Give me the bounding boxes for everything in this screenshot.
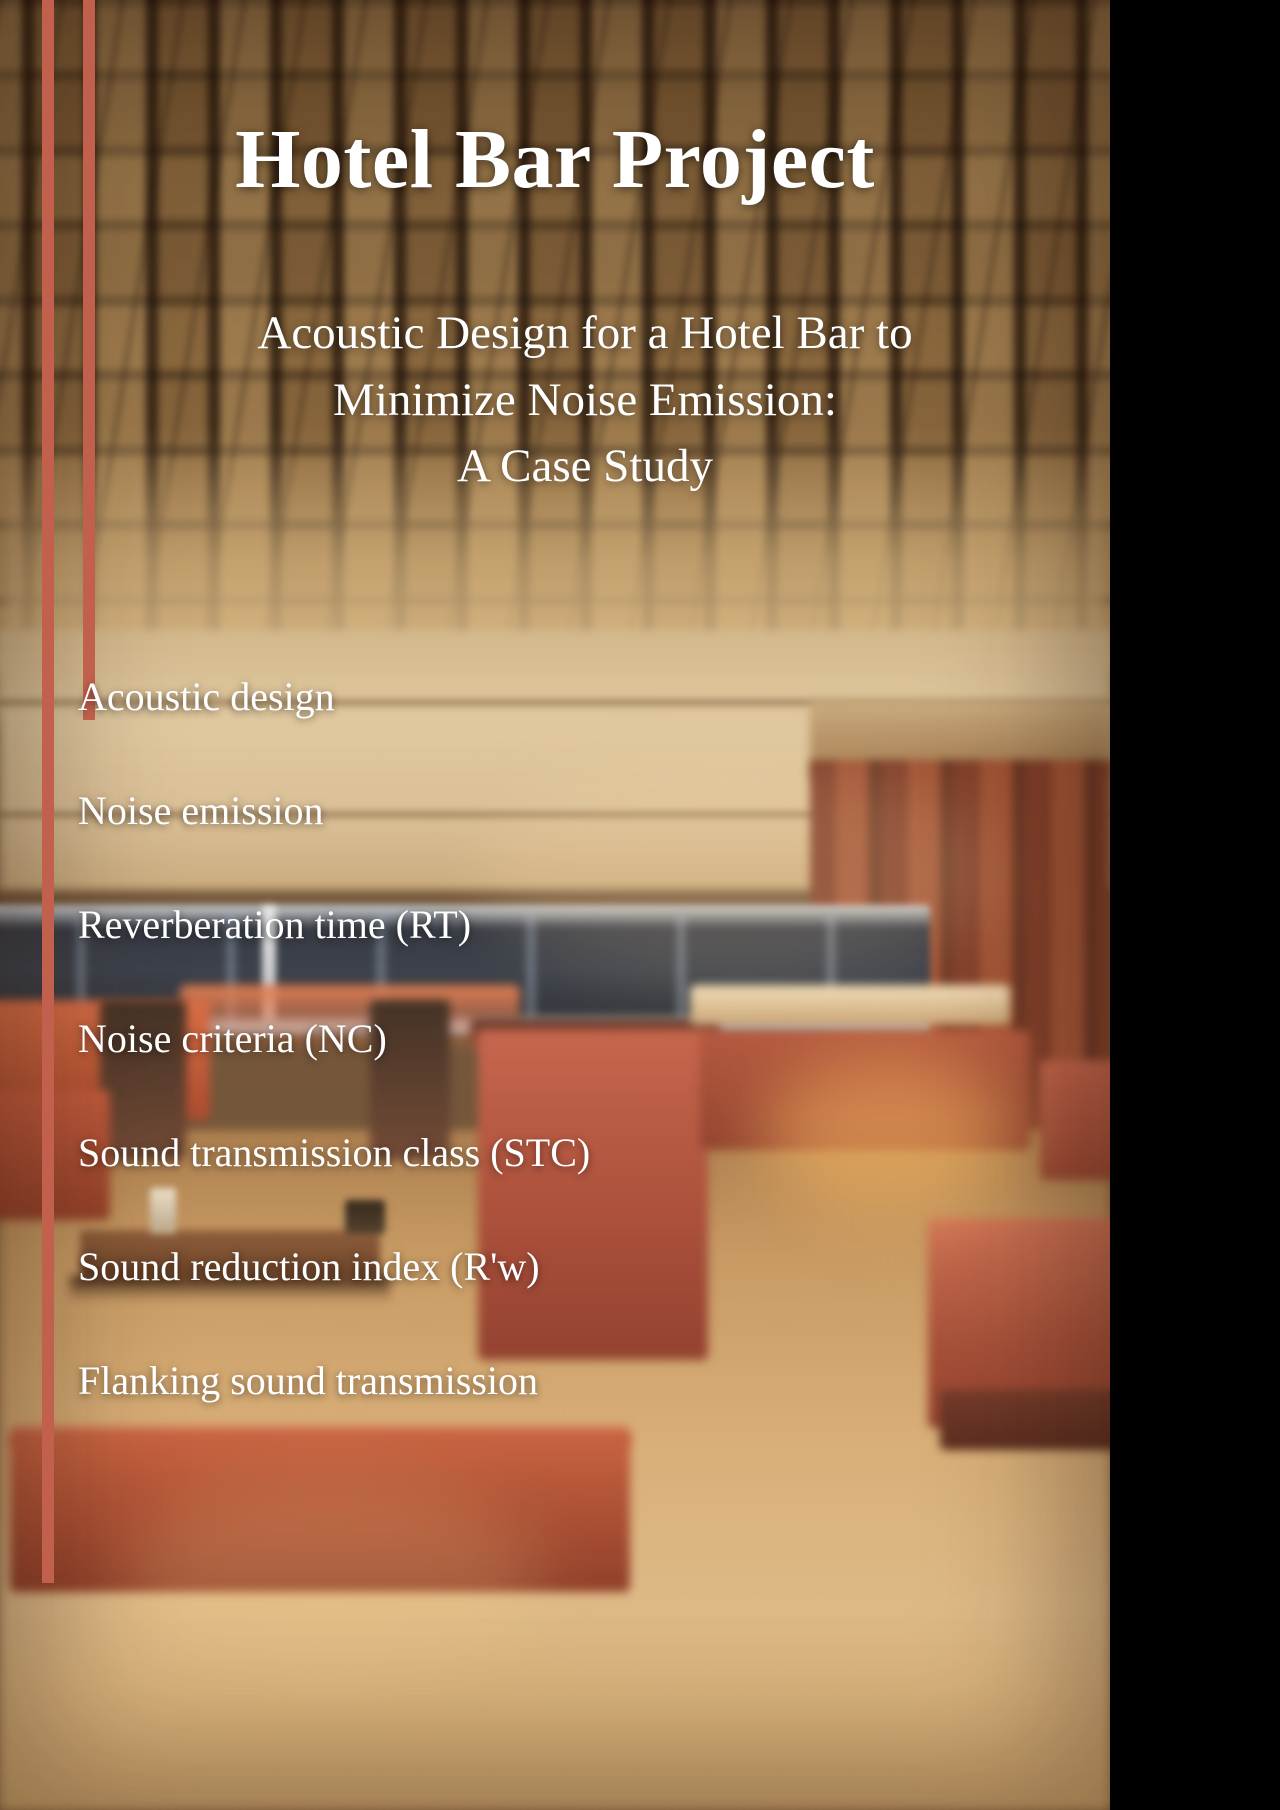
keyword-item: Acoustic design bbox=[78, 640, 1070, 754]
keyword-item: Reverberation time (RT) bbox=[78, 868, 1070, 982]
book-cover: Hotel Bar Project Acoustic Design for a … bbox=[0, 0, 1110, 1810]
cover-content: Hotel Bar Project Acoustic Design for a … bbox=[0, 0, 1110, 1810]
cover-subtitle: Acoustic Design for a Hotel Bar to Minim… bbox=[120, 300, 1050, 500]
subtitle-line-3: A Case Study bbox=[120, 433, 1050, 500]
keyword-item: Noise emission bbox=[78, 754, 1070, 868]
cover-title: Hotel Bar Project bbox=[0, 116, 1110, 204]
keyword-list: Acoustic design Noise emission Reverbera… bbox=[78, 640, 1070, 1438]
subtitle-line-2: Minimize Noise Emission: bbox=[120, 367, 1050, 434]
subtitle-line-1: Acoustic Design for a Hotel Bar to bbox=[120, 300, 1050, 367]
keyword-item: Sound transmission class (STC) bbox=[78, 1096, 1070, 1210]
keyword-item: Noise criteria (NC) bbox=[78, 982, 1070, 1096]
keyword-item: Sound reduction index (R'w) bbox=[78, 1210, 1070, 1324]
keyword-item: Flanking sound transmission bbox=[78, 1324, 1070, 1438]
